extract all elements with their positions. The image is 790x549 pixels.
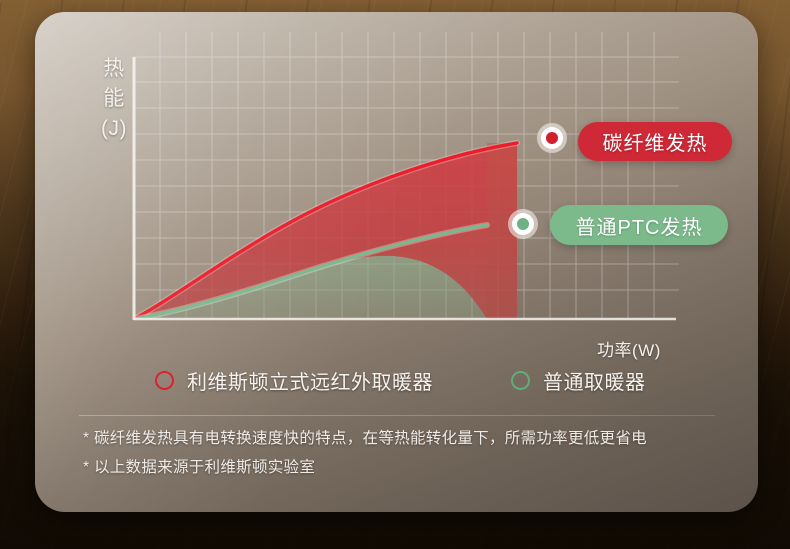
legend-item-leviston[interactable]: 利维斯顿立式远红外取暖器 [155,366,433,395]
y-axis-label-line-1: 热 [92,54,136,84]
legend-label-leviston: 利维斯顿立式远红外取暖器 [187,366,433,395]
legend-marker-green-circle-icon [511,371,530,390]
endpoint-marker-carbon-ring [541,127,563,149]
endpoint-marker-carbon-core [546,132,558,144]
legend-marker-red-circle-icon [155,371,174,390]
callout-ptc[interactable]: 普通PTC发热 [550,205,728,245]
endpoint-marker-carbon[interactable] [537,123,567,153]
callout-carbon[interactable]: 碳纤维发热 [578,122,732,161]
footnotes: * 碳纤维发热具有电转换速度快的特点，在等热能转化量下，所需功率更低更省电 * … [83,424,743,482]
legend-label-ordinary: 普通取暖器 [543,366,646,395]
x-axis-label: 功率(W) [597,336,661,361]
y-axis-label: 热 能 (J) [92,54,136,144]
endpoint-marker-ptc-ring [512,213,534,235]
y-axis-label-line-3: (J) [92,114,136,144]
chart-legend: 利维斯顿立式远红外取暖器 普通取暖器 [155,360,715,400]
legend-item-ordinary[interactable]: 普通取暖器 [511,366,646,395]
y-axis-label-line-2: 能 [92,84,136,114]
footnote-divider [79,415,715,416]
endpoint-marker-ptc[interactable] [508,209,538,239]
chart-card: 热 能 (J) 功率(W) 碳纤维发热 普通PTC发热 利维斯顿立式远红外取暖器 [35,12,758,512]
footnote-1: * 碳纤维发热具有电转换速度快的特点，在等热能转化量下，所需功率更低更省电 [83,424,743,453]
endpoint-marker-ptc-core [517,218,529,230]
footnote-2: * 以上数据来源于利维斯顿实验室 [83,453,743,482]
screenshot-root: 热 能 (J) 功率(W) 碳纤维发热 普通PTC发热 利维斯顿立式远红外取暖器 [0,0,790,549]
